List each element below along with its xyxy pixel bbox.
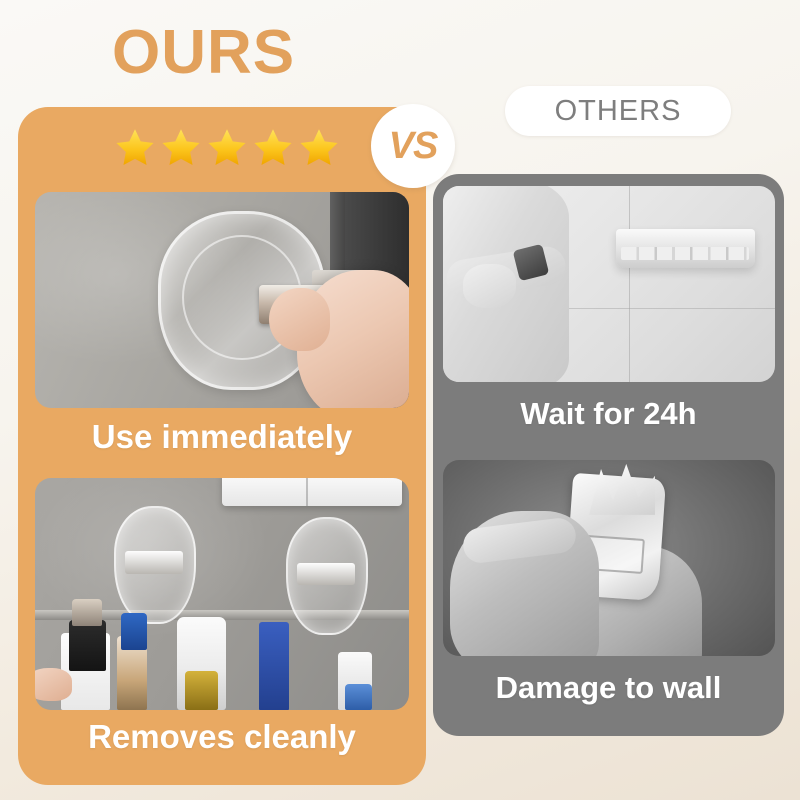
torn-wall-paint-shape [589,464,655,515]
others-pill-badge: OTHERS [505,86,731,136]
hook-clip [125,551,183,574]
star-icon [205,126,249,170]
toiletry-bottle [72,599,102,627]
star-icon [297,126,341,170]
vs-label: VS [389,125,438,168]
hook-clip [297,563,355,586]
others-card-damage-to-wall [443,460,775,656]
wall-cabinet-shape [222,478,402,506]
hand-shape [463,264,516,307]
tile-grout-line [629,186,630,382]
toiletry-bottle [185,671,219,710]
ours-caption-use-immediately: Use immediately [18,418,426,456]
ours-card-use-immediately [35,192,409,408]
star-icon [251,126,295,170]
wall-shelf-shape [616,229,755,268]
star-rating [113,126,341,170]
others-caption-damage-to-wall: Damage to wall [433,670,784,706]
ours-caption-removes-cleanly: Removes cleanly [18,718,426,756]
ours-title: OURS [112,22,295,84]
toiletry-bottle [69,620,106,671]
ours-card-removes-cleanly [35,478,409,710]
toiletry-bottle [259,622,289,710]
clear-suction-hook-install-photo [35,192,409,408]
star-icon [159,126,203,170]
person-checking-watch-photo [443,186,775,382]
toiletry-bottle [121,613,147,650]
suction-hook-shape [286,517,369,635]
star-icon [113,126,157,170]
others-title: OTHERS [555,95,682,128]
suction-hook-shape [114,506,197,624]
suction-hooks-bathroom-shelf-photo [35,478,409,710]
others-caption-wait-24h: Wait for 24h [433,396,784,432]
hand-shape [297,270,409,408]
hand-shape [35,668,72,700]
others-card-wait-24h [443,186,775,382]
toiletry-bottle [345,684,371,710]
vs-badge: VS [371,104,455,188]
comparison-infographic: OURS OTHERS VS [0,0,800,800]
peeled-adhesive-wall-damage-photo [443,460,775,656]
